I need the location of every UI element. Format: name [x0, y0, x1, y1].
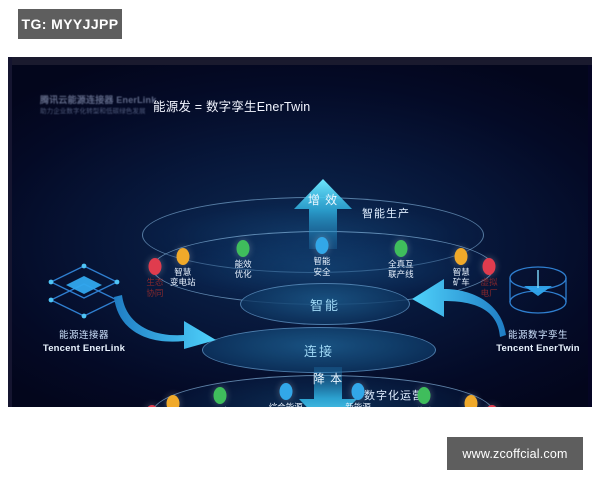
- website-watermark-text: www.zcoffcial.com: [462, 447, 567, 461]
- node-label: 移动 协同: [397, 406, 451, 407]
- telegram-watermark-text: TG: MYYJJPP: [22, 16, 119, 32]
- layer-intelligence: 智能: [240, 283, 410, 325]
- header-left-subtitle: 助力企业数字化转型和低碳绿色发展: [40, 107, 158, 117]
- layer-intelligence-label: 智能: [241, 295, 409, 314]
- slide-top-border: [8, 57, 592, 65]
- node-label: 综合能源 服务: [259, 402, 313, 407]
- node-label: 智能 安全: [295, 256, 349, 277]
- top-caption: 智能生产: [362, 205, 410, 221]
- up-arrow-label: 增 效: [303, 193, 343, 208]
- node-dot-icon: [417, 387, 430, 404]
- slide-header-main: 能源发 = 数字孪生EnerTwin: [153, 96, 310, 115]
- presentation-slide: 腾讯云能源连接器 EnerLink 助力企业数字化转型和低碳绿色发展 能源发 =…: [8, 57, 592, 407]
- node-dot-icon: [352, 383, 365, 400]
- node-dot-icon: [455, 248, 468, 265]
- node-dot-icon: [237, 240, 250, 257]
- right-curved-arrow-icon: [410, 277, 510, 339]
- slide-left-border: [8, 57, 12, 407]
- node-dot-icon: [166, 395, 179, 407]
- node-dot-icon: [214, 387, 227, 404]
- node-dot-icon: [279, 383, 292, 400]
- slide-header-left: 腾讯云能源连接器 EnerLink 助力企业数字化转型和低碳绿色发展: [40, 95, 158, 117]
- node-label: 零碳 园区: [193, 406, 247, 407]
- node-dot-icon: [176, 248, 189, 265]
- header-left-title: 腾讯云能源连接器 EnerLink: [40, 95, 158, 106]
- node-dot-icon: [316, 237, 329, 254]
- website-watermark-badge: www.zcoffcial.com: [447, 437, 583, 470]
- slide-canvas: 腾讯云能源连接器 EnerLink 助力企业数字化转型和低碳绿色发展 能源发 =…: [12, 65, 588, 407]
- down-arrow-label: 降 本: [308, 372, 348, 387]
- node-label: 新能源 运营: [331, 402, 385, 407]
- node-label: 能效 优化: [216, 259, 270, 280]
- node-dot-icon: [394, 240, 407, 257]
- node-dot-icon: [465, 395, 478, 407]
- layer-connection-label: 连接: [203, 341, 435, 360]
- left-curved-arrow-icon: [112, 283, 220, 349]
- telegram-watermark-badge: TG: MYYJJPP: [18, 9, 122, 39]
- module-enertwin-name-en: Tencent EnerTwin: [478, 343, 588, 354]
